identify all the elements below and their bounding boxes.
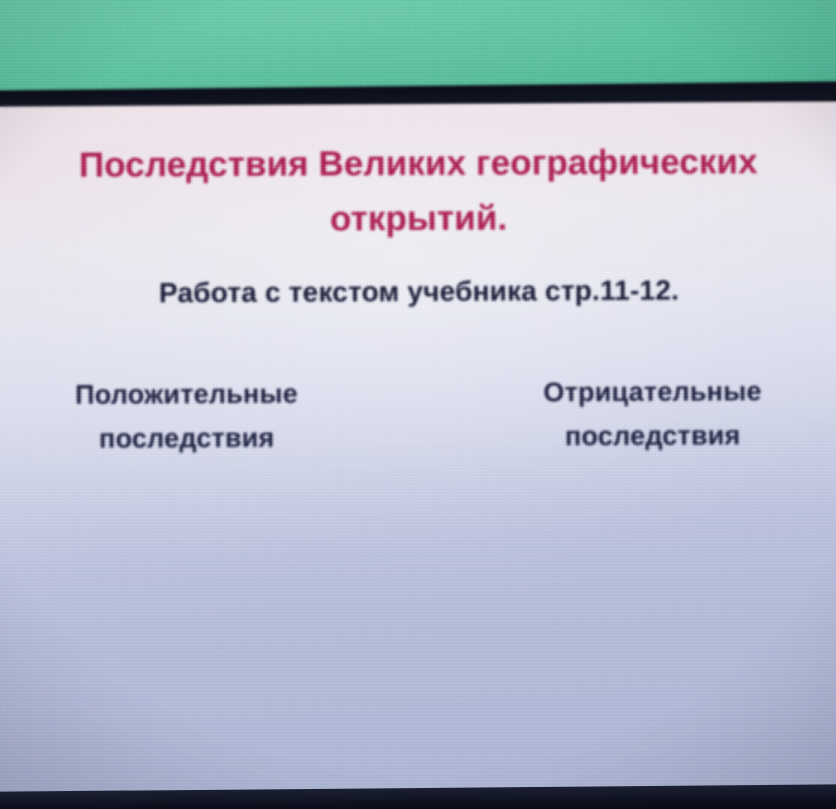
slide-title: Последствия Великих географических откры… xyxy=(8,134,829,249)
column-positive-heading-line-2: последствия xyxy=(2,416,372,462)
column-positive-heading-line-1: Положительные xyxy=(1,372,371,418)
slide-photograph: Последствия Великих географических откры… xyxy=(0,0,836,809)
column-negative-heading-line-1: Отрицательные xyxy=(467,370,836,416)
slide-subtitle: Работа с текстом учебника стр.11-12. xyxy=(9,274,829,310)
column-negative-heading-line-2: последствия xyxy=(468,414,836,460)
column-positive-consequences: Положительные последствия xyxy=(1,372,423,462)
consequences-columns: Положительные последствия Отрицательные … xyxy=(1,370,836,462)
slide-content: Последствия Великих географических откры… xyxy=(0,102,836,796)
column-negative-consequences: Отрицательные последствия xyxy=(423,370,836,460)
